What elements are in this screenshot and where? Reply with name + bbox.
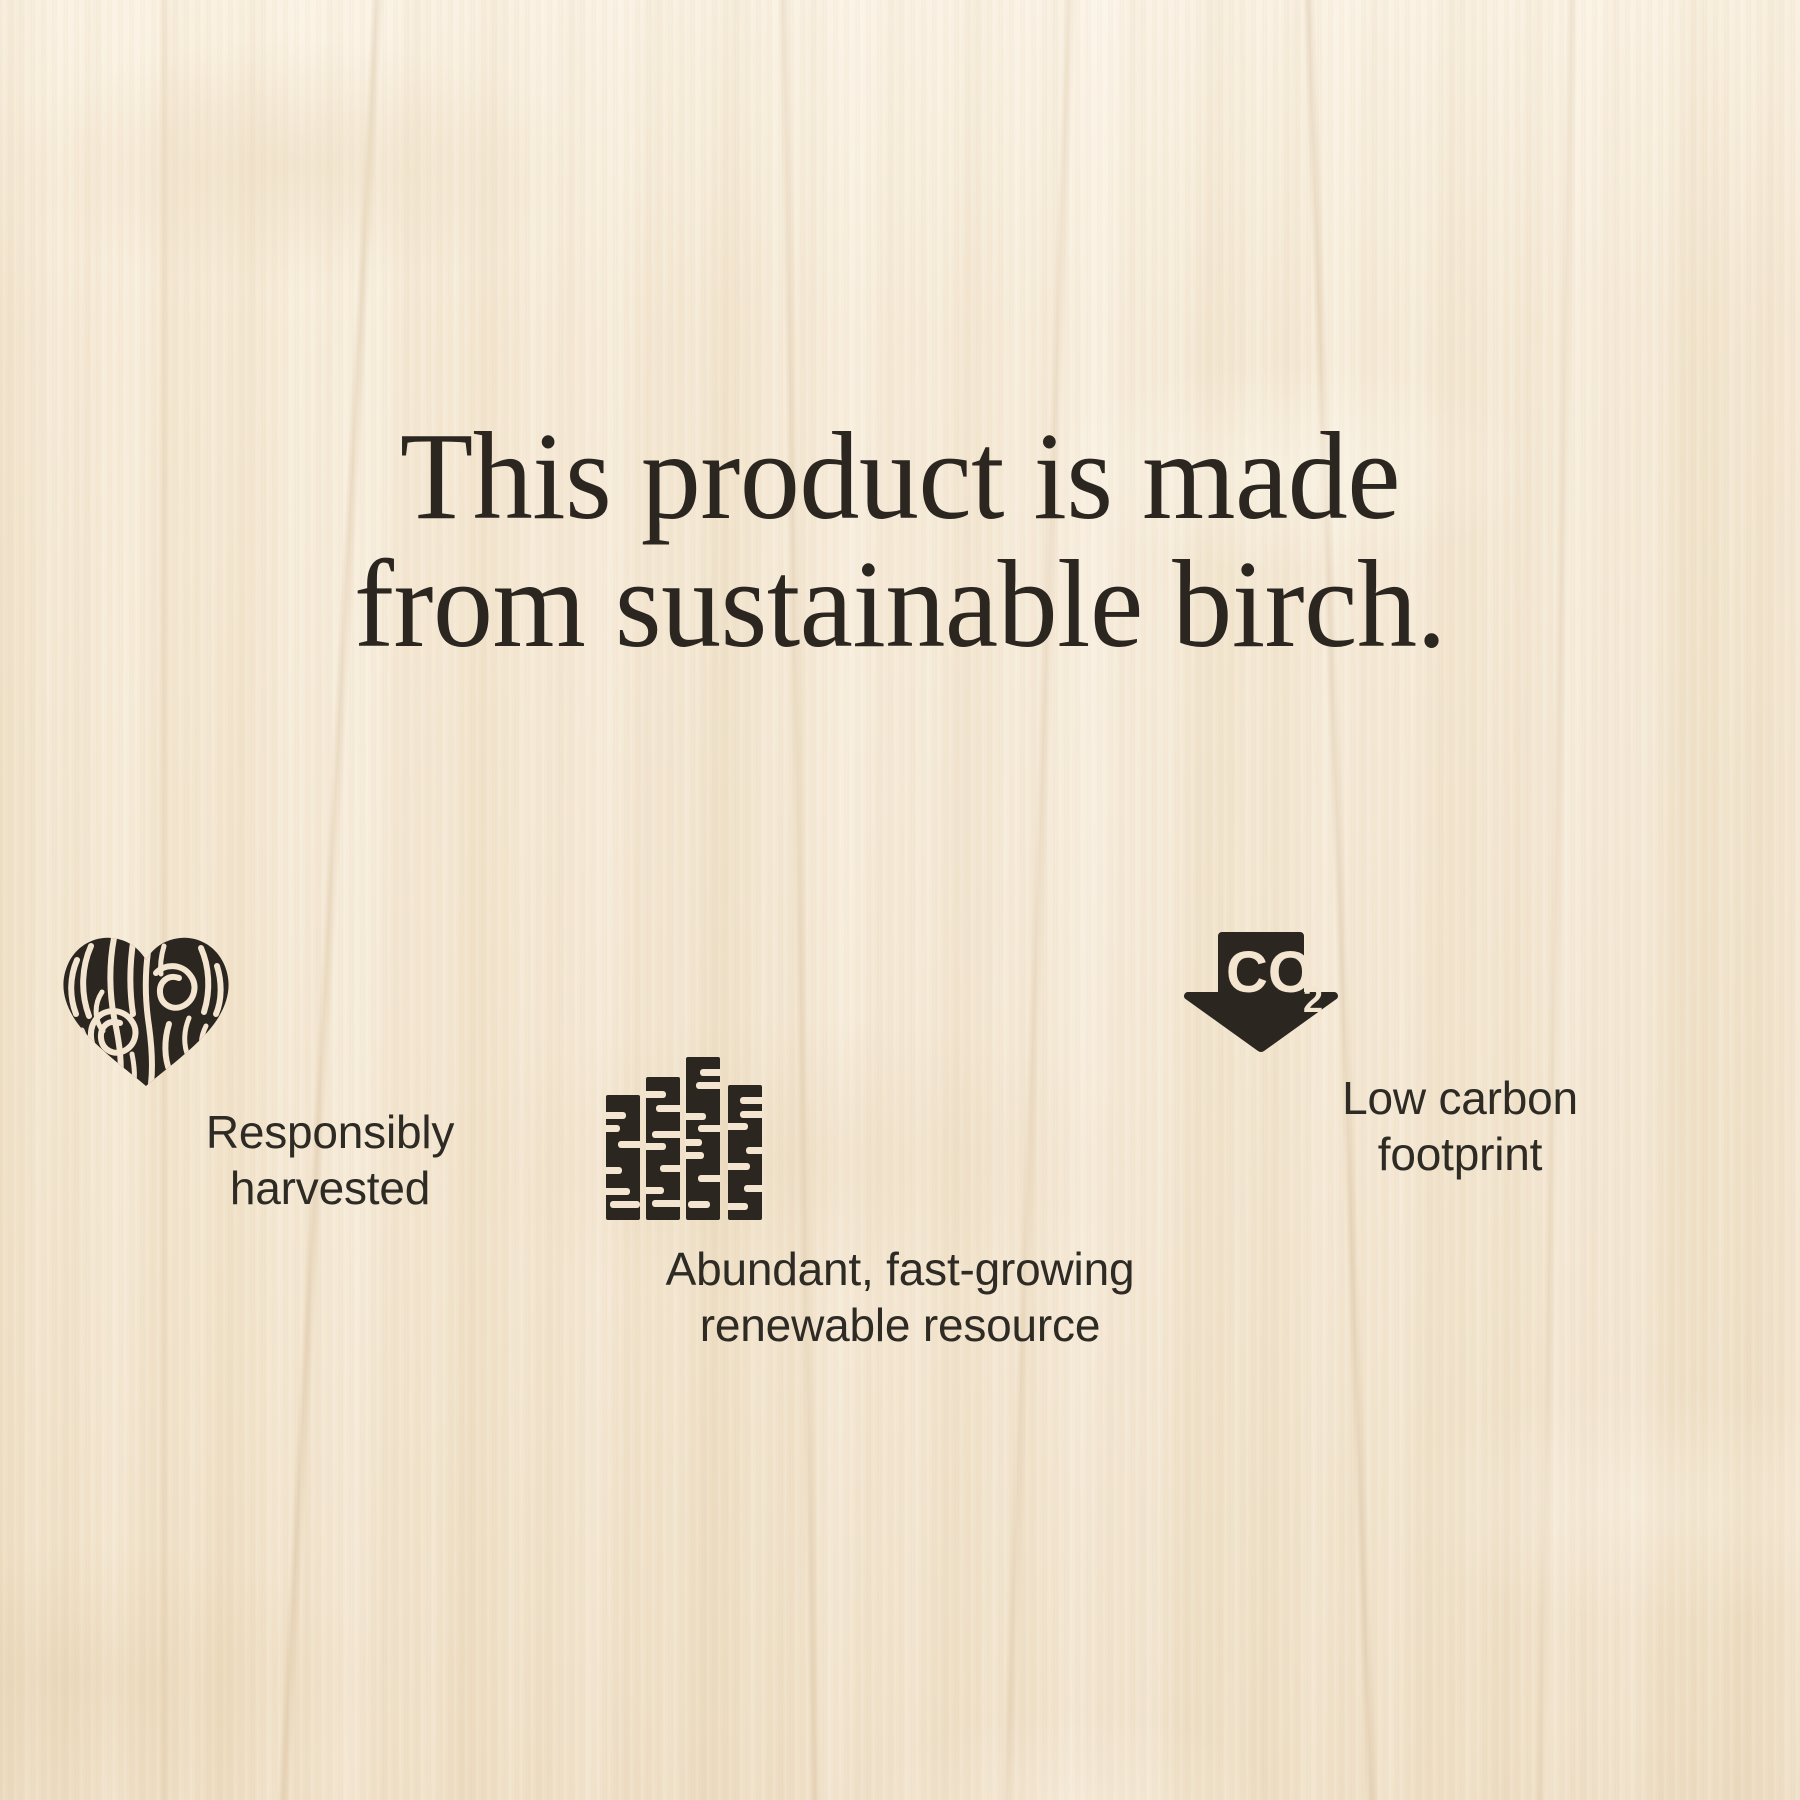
feature-label-responsibly-harvested: Responsibly harvested xyxy=(60,1104,600,1216)
feature-low-carbon-footprint: CO 2 Low carbon footprint xyxy=(1180,930,1740,1182)
headline: This product is made from sustainable bi… xyxy=(0,414,1800,669)
sustainable-birch-poster: This product is made from sustainable bi… xyxy=(0,0,1800,1800)
co2-down-arrow-icon: CO 2 xyxy=(1180,930,1740,1054)
feature-renewable-resource: Abundant, fast-growing renewable resourc… xyxy=(600,1055,1200,1353)
feature-label-renewable-resource: Abundant, fast-growing renewable resourc… xyxy=(600,1241,1200,1353)
wood-grain-heart-icon xyxy=(60,930,600,1088)
poster-content: This product is made from sustainable bi… xyxy=(0,0,1800,1800)
co2-subscript: 2 xyxy=(1303,979,1323,1020)
feature-label-low-carbon-footprint: Low carbon footprint xyxy=(1180,1070,1740,1182)
co2-label: CO xyxy=(1226,940,1313,1005)
feature-responsibly-harvested: Responsibly harvested xyxy=(60,930,600,1216)
headline-line-2: from sustainable birch. xyxy=(122,542,1677,670)
headline-line-1: This product is made xyxy=(122,414,1677,542)
birch-trunks-icon xyxy=(600,1055,1200,1225)
